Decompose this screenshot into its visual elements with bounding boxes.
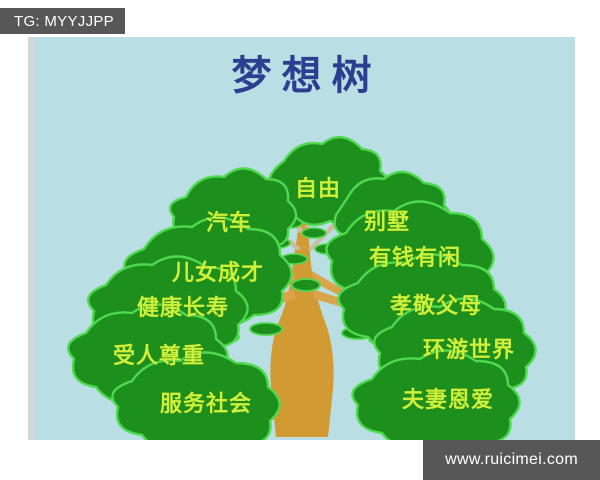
source-tag: TG: MYYJJPP xyxy=(0,8,125,34)
dream-tree-illustration xyxy=(28,37,575,440)
screenshot-root: 梦想树 xyxy=(0,0,600,480)
artwork-panel: 梦想树 xyxy=(28,37,575,440)
watermark: www.ruicimei.com xyxy=(423,440,600,480)
